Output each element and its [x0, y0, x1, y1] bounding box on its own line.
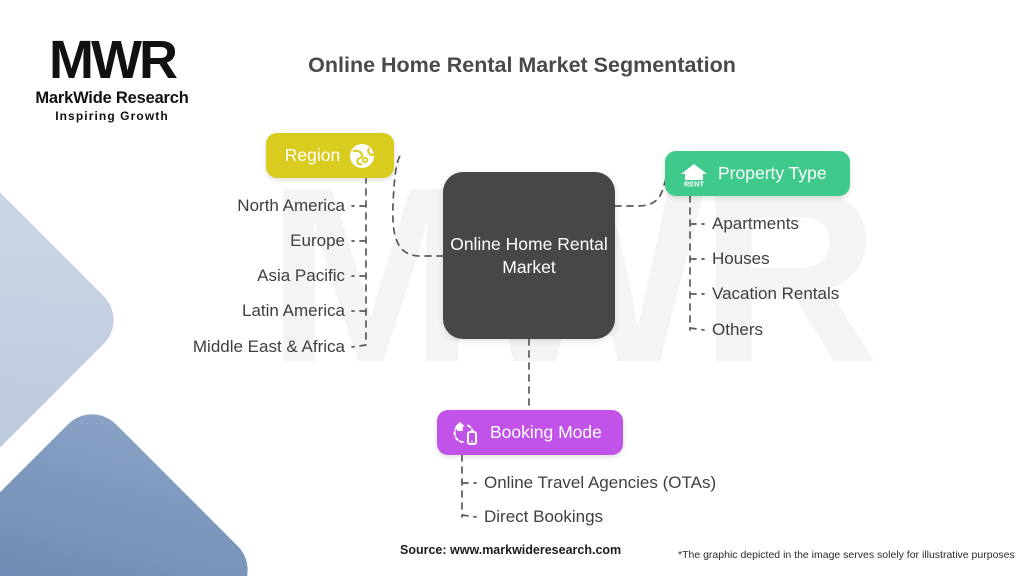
branch-badge-property-type-label: Property Type: [718, 163, 827, 184]
branch-badge-region-label: Region: [285, 145, 340, 166]
list-item-property-type-2[interactable]: Vacation Rentals: [712, 284, 839, 304]
brand-tagline: Inspiring Growth: [22, 108, 202, 124]
branch-badge-region[interactable]: Region: [266, 133, 394, 178]
online-booking-icon: [451, 418, 481, 448]
brand-logo: MWR MarkWide Research Inspiring Growth: [22, 32, 202, 124]
branch-badge-property-type[interactable]: RENT Property Type: [665, 151, 850, 196]
globe-icon: [349, 143, 375, 169]
list-item-region-1[interactable]: Europe: [45, 231, 345, 251]
svg-text:RENT: RENT: [684, 179, 705, 188]
brand-name: MarkWide Research: [22, 88, 202, 108]
center-node-label: Online Home Rental Market: [443, 233, 615, 279]
disclaimer-label: *The graphic depicted in the image serve…: [678, 549, 1015, 561]
decorative-square-dark: [0, 400, 262, 576]
list-item-region-4[interactable]: Middle East & Africa: [45, 337, 345, 357]
branch-badge-booking-mode[interactable]: Booking Mode: [437, 410, 623, 455]
list-item-booking-mode-1[interactable]: Direct Bookings: [484, 507, 603, 527]
list-item-region-0[interactable]: North America: [45, 196, 345, 216]
infographic-canvas: MWR MWR MarkWide Research Inspiring Grow…: [0, 0, 1024, 576]
branch-badge-booking-mode-label: Booking Mode: [490, 422, 602, 443]
list-item-property-type-3[interactable]: Others: [712, 320, 763, 340]
page-title: Online Home Rental Market Segmentation: [262, 53, 782, 78]
list-item-region-2[interactable]: Asia Pacific: [45, 266, 345, 286]
list-item-property-type-0[interactable]: Apartments: [712, 214, 799, 234]
list-item-region-3[interactable]: Latin America: [45, 301, 345, 321]
logo-mark-icon: MWR: [22, 32, 202, 88]
center-node[interactable]: Online Home Rental Market: [443, 172, 615, 339]
source-label[interactable]: Source: www.markwideresearch.com: [400, 543, 621, 557]
list-item-property-type-1[interactable]: Houses: [712, 249, 770, 269]
list-item-booking-mode-0[interactable]: Online Travel Agencies (OTAs): [484, 473, 716, 493]
house-rent-icon: RENT: [679, 159, 709, 189]
